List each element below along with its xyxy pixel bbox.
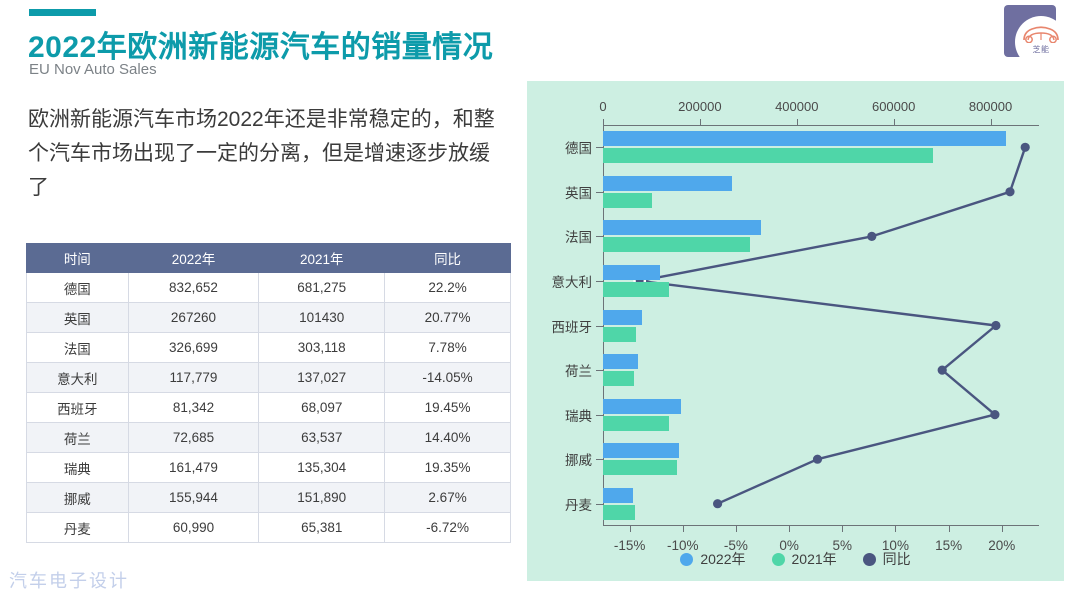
bottom-axis-tick	[736, 526, 737, 532]
category-tick	[596, 504, 603, 505]
legend-label: 同比	[883, 549, 911, 569]
table-cell: 68,097	[259, 393, 385, 423]
bar-2022-3	[603, 265, 660, 280]
table-cell: 19.35%	[385, 453, 511, 483]
bottom-axis-tick	[1002, 526, 1003, 532]
table-cell: 101430	[259, 303, 385, 333]
table-row: 丹麦60,99065,381-6.72%	[27, 513, 511, 543]
bottom-axis-tick	[789, 526, 790, 532]
table-cell: 7.78%	[385, 333, 511, 363]
summary-paragraph: 欧洲新能源汽车市场2022年还是非常稳定的，和整个汽车市场出现了一定的分离，但是…	[28, 103, 498, 205]
yoy-point-8	[713, 499, 722, 508]
sales-table: 时间2022年2021年同比 德国832,652681,27522.2%英国26…	[26, 243, 511, 543]
chart-plot-area: 0200000400000600000800000-15%-10%-5%0%5%…	[603, 125, 1039, 526]
table-cell: 挪威	[27, 483, 129, 513]
yoy-point-2	[867, 232, 876, 241]
table-cell: 西班牙	[27, 393, 129, 423]
table-row: 西班牙81,34268,09719.45%	[27, 393, 511, 423]
yoy-point-1	[1005, 187, 1014, 196]
table-cell: 72,685	[128, 423, 259, 453]
legend-item-1[interactable]: 2021年	[772, 549, 837, 569]
table-cell: 19.45%	[385, 393, 511, 423]
bar-2022-0	[603, 131, 1006, 146]
bar-2022-2	[603, 220, 761, 235]
table-row: 意大利117,779137,027-14.05%	[27, 363, 511, 393]
yoy-point-5	[938, 366, 947, 375]
table-cell: 德国	[27, 273, 129, 303]
bar-2022-4	[603, 310, 642, 325]
table-cell: 意大利	[27, 363, 129, 393]
bottom-axis-tick	[683, 526, 684, 532]
legend-label: 2022年	[700, 549, 745, 569]
category-label-7: 挪威	[565, 449, 592, 469]
bottom-percent-axis	[603, 525, 1039, 526]
top-axis-label: 200000	[678, 99, 721, 114]
table-cell: 20.77%	[385, 303, 511, 333]
bar-2021-6	[603, 416, 669, 431]
table-row: 法国326,699303,1187.78%	[27, 333, 511, 363]
table-cell: 832,652	[128, 273, 259, 303]
table-header-cell-1: 2022年	[128, 244, 259, 273]
bar-2021-0	[603, 148, 933, 163]
bar-2022-5	[603, 354, 638, 369]
bar-2021-5	[603, 371, 634, 386]
bottom-axis-tick	[630, 526, 631, 532]
top-axis-tick	[797, 119, 798, 125]
page-subtitle: EU Nov Auto Sales	[29, 61, 157, 78]
table-cell: 137,027	[259, 363, 385, 393]
category-label-6: 瑞典	[565, 405, 592, 425]
yoy-point-7	[813, 455, 822, 464]
brand-logo: 芝能	[1004, 5, 1067, 68]
table-cell: 丹麦	[27, 513, 129, 543]
top-axis-tick	[603, 119, 604, 125]
bar-2021-1	[603, 193, 652, 208]
bar-2021-8	[603, 505, 635, 520]
top-value-axis	[603, 125, 1039, 126]
category-label-2: 法国	[565, 226, 592, 246]
table-cell: 60,990	[128, 513, 259, 543]
table-cell: 303,118	[259, 333, 385, 363]
legend-swatch-icon	[863, 553, 876, 566]
table-cell: 81,342	[128, 393, 259, 423]
table-cell: 155,944	[128, 483, 259, 513]
category-tick	[596, 370, 603, 371]
legend-item-0[interactable]: 2022年	[680, 549, 745, 569]
top-axis-label: 400000	[775, 99, 818, 114]
bar-2021-7	[603, 460, 677, 475]
logo-wordmark: 芝能	[1015, 44, 1067, 55]
table-row: 德国832,652681,27522.2%	[27, 273, 511, 303]
car-icon	[1022, 25, 1060, 43]
page-title: 2022年欧洲新能源汽车的销量情况	[28, 22, 493, 66]
table-cell: 151,890	[259, 483, 385, 513]
table-row: 挪威155,944151,8902.67%	[27, 483, 511, 513]
slide-root: 2022年欧洲新能源汽车的销量情况 EU Nov Auto Sales 芝能 欧…	[0, 0, 1080, 605]
bottom-axis-tick	[895, 526, 896, 532]
bar-2022-8	[603, 488, 633, 503]
table-cell: -6.72%	[385, 513, 511, 543]
category-tick	[596, 326, 603, 327]
legend-label: 2021年	[792, 549, 837, 569]
yoy-point-6	[990, 410, 999, 419]
table-cell: 63,537	[259, 423, 385, 453]
table-body: 德国832,652681,27522.2%英国26726010143020.77…	[27, 273, 511, 543]
bar-2022-6	[603, 399, 681, 414]
top-axis-tick	[894, 119, 895, 125]
category-label-1: 英国	[565, 182, 592, 202]
top-axis-label: 0	[599, 99, 606, 114]
table-cell: 英国	[27, 303, 129, 333]
table-cell: 117,779	[128, 363, 259, 393]
legend-item-2[interactable]: 同比	[863, 549, 911, 569]
table-row: 英国26726010143020.77%	[27, 303, 511, 333]
category-tick	[596, 236, 603, 237]
table-cell: 法国	[27, 333, 129, 363]
table-cell: 135,304	[259, 453, 385, 483]
table-cell: 22.2%	[385, 273, 511, 303]
table-cell: 14.40%	[385, 423, 511, 453]
category-label-3: 意大利	[552, 271, 593, 291]
logo-circle: 芝能	[1015, 16, 1067, 68]
table-cell: 瑞典	[27, 453, 129, 483]
watermark: 汽车电子设计	[9, 567, 129, 593]
yoy-point-4	[991, 321, 1000, 330]
category-tick	[596, 147, 603, 148]
table-cell: 267260	[128, 303, 259, 333]
top-axis-tick	[700, 119, 701, 125]
legend-swatch-icon	[680, 553, 693, 566]
table-cell: -14.05%	[385, 363, 511, 393]
bar-2021-2	[603, 237, 750, 252]
bar-2021-4	[603, 327, 636, 342]
chart-panel: 0200000400000600000800000-15%-10%-5%0%5%…	[527, 81, 1064, 581]
category-label-0: 德国	[565, 137, 592, 157]
category-tick	[596, 281, 603, 282]
yoy-line-path	[640, 147, 1025, 503]
table-cell: 荷兰	[27, 423, 129, 453]
bottom-axis-tick	[949, 526, 950, 532]
table-cell: 326,699	[128, 333, 259, 363]
category-label-4: 西班牙	[552, 316, 593, 336]
category-tick	[596, 192, 603, 193]
top-axis-label: 600000	[872, 99, 915, 114]
table-cell: 2.67%	[385, 483, 511, 513]
chart-legend: 2022年2021年同比	[527, 549, 1064, 569]
category-tick	[596, 415, 603, 416]
table-cell: 681,275	[259, 273, 385, 303]
top-axis-label: 800000	[969, 99, 1012, 114]
table-header-cell-3: 同比	[385, 244, 511, 273]
yoy-point-0	[1021, 143, 1030, 152]
bar-2022-1	[603, 176, 732, 191]
category-label-8: 丹麦	[565, 494, 592, 514]
bottom-axis-tick	[842, 526, 843, 532]
sales-table-wrapper: 时间2022年2021年同比 德国832,652681,27522.2%英国26…	[26, 243, 511, 543]
category-label-5: 荷兰	[565, 360, 592, 380]
top-axis-tick	[991, 119, 992, 125]
table-header-row: 时间2022年2021年同比	[27, 244, 511, 273]
table-row: 荷兰72,68563,53714.40%	[27, 423, 511, 453]
table-row: 瑞典161,479135,30419.35%	[27, 453, 511, 483]
table-cell: 161,479	[128, 453, 259, 483]
legend-swatch-icon	[772, 553, 785, 566]
bar-2022-7	[603, 443, 679, 458]
table-cell: 65,381	[259, 513, 385, 543]
category-tick	[596, 459, 603, 460]
table-header-cell-0: 时间	[27, 244, 129, 273]
bar-2021-3	[603, 282, 669, 297]
table-header-cell-2: 2021年	[259, 244, 385, 273]
title-accent-bar	[29, 9, 96, 16]
